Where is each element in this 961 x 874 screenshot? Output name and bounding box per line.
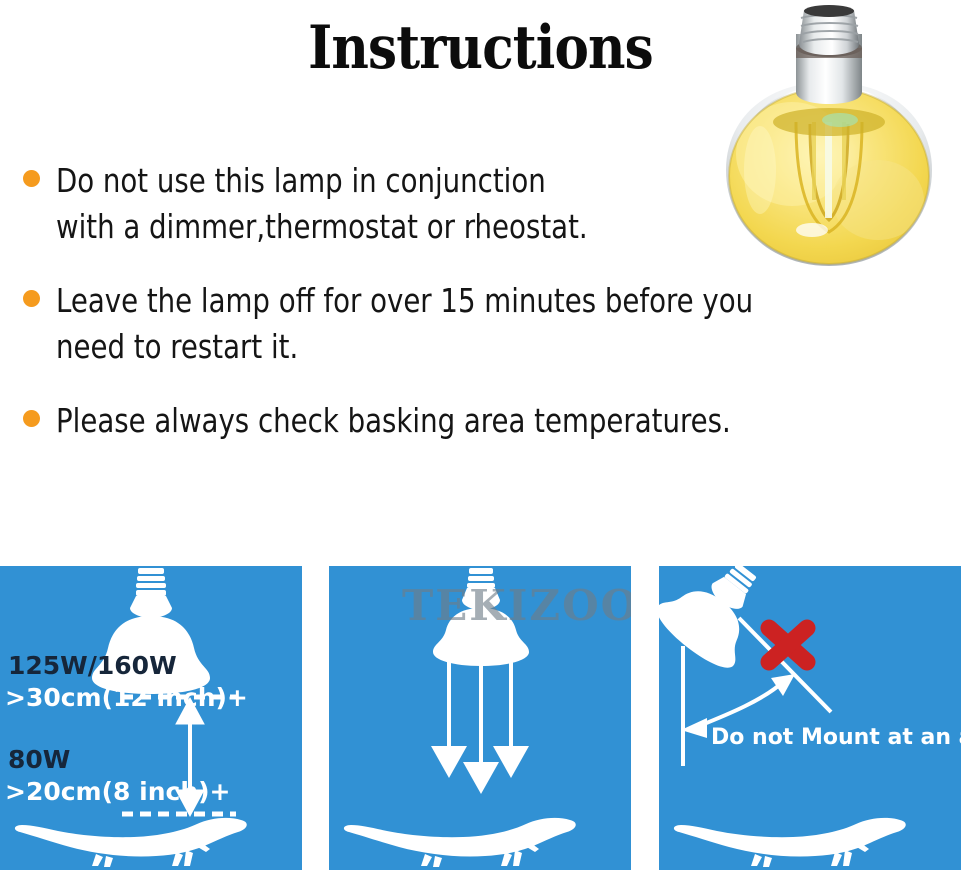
no-angle-mount-panel: Do not Mount at an angle: [659, 566, 961, 870]
instruction-text-check-temps: Please always check basking area tempera…: [56, 398, 886, 444]
instruction-list: Do not use this lamp in conjunction with…: [14, 158, 949, 472]
list-item: Do not use this lamp in conjunction with…: [14, 158, 949, 250]
list-item: Leave the lamp off for over 15 minutes b…: [14, 278, 949, 370]
label-distance-high: >30cm(12 inch)+: [5, 683, 248, 712]
list-item: Please always check basking area tempera…: [14, 398, 949, 444]
instruction-text-no-dimmer: Do not use this lamp in conjunction with…: [56, 158, 886, 250]
bullet-dot-icon: [23, 410, 40, 427]
label-wattage-high: 125W/160W: [8, 651, 177, 680]
label-distance-low: >20cm(8 inch)+: [5, 777, 231, 806]
bullet-dot-icon: [23, 290, 40, 307]
brand-watermark: TEKIZOO: [402, 581, 631, 630]
instruction-text-cool-down: Leave the lamp off for over 15 minutes b…: [56, 278, 886, 370]
label-wattage-low: 80W: [8, 745, 70, 774]
heat-direction-panel: TEKIZOO: [329, 566, 631, 870]
bullet-dot-icon: [23, 170, 40, 187]
label-no-angle-warning: Do not Mount at an angle: [711, 725, 961, 750]
diagram-panel-strip: 125W/160W >30cm(12 inch)+ 80W >20cm(8 in…: [0, 566, 961, 870]
mounting-distance-panel: 125W/160W >30cm(12 inch)+ 80W >20cm(8 in…: [0, 566, 302, 870]
